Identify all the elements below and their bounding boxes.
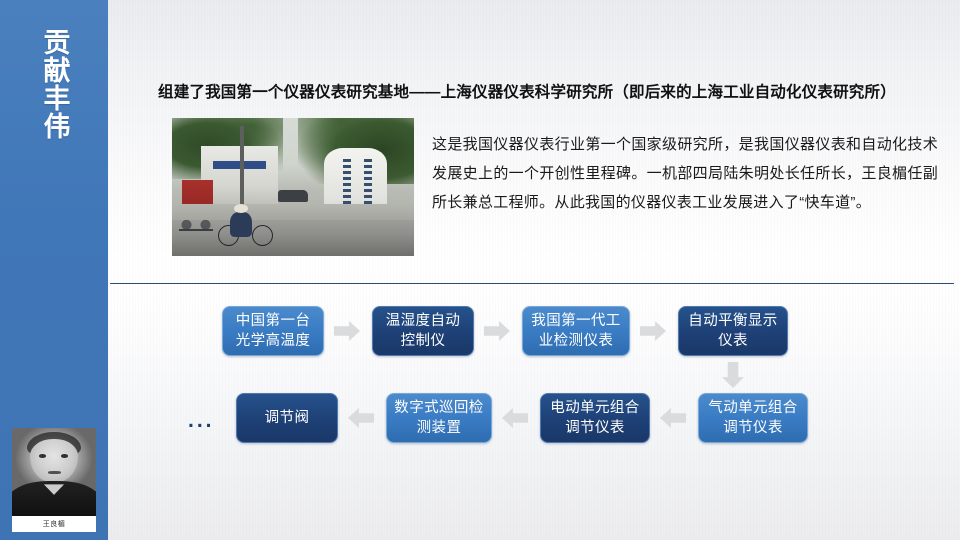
portrait-photo [12, 428, 96, 516]
portrait-face [30, 439, 77, 481]
flow-node-5[interactable]: 调节阀 [236, 393, 338, 443]
photo-pole [240, 126, 244, 214]
flow-node-2[interactable]: 温湿度自动 控制仪 [372, 306, 474, 356]
section-divider [110, 283, 954, 284]
photo-car [278, 190, 307, 202]
flow-node-7-label: 电动单元组合 调节仪表 [550, 398, 639, 438]
flow-arrow-4 [722, 362, 744, 388]
sidebar-title: 贡献丰伟 [38, 14, 71, 154]
slide-canvas: 贡献丰伟 王良楣 组建了我国第一个仪器仪表研究基地——上海仪器仪表科学研究所（即… [0, 0, 960, 540]
photo-plaque-right [364, 159, 372, 206]
portrait-caption: 王良楣 [12, 516, 96, 532]
sidebar: 贡献丰伟 王良楣 [0, 0, 108, 540]
flow-node-3-label: 我国第一代工 业检测仪表 [531, 311, 620, 351]
flow-node-1-label: 中国第一台 光学高温度 [236, 311, 311, 351]
flow-arrow-7 [660, 408, 686, 428]
flow-node-8[interactable]: 气动单元组合 调节仪表 [698, 393, 808, 443]
flowchart: ... 中国第一台 光学高温度 温湿度自动 控制仪 我国第一代工 业检测仪表 自… [108, 292, 960, 472]
portrait-eye-right [61, 454, 69, 458]
flow-node-4[interactable]: 自动平衡显示 仪表 [678, 306, 788, 356]
flow-node-8-label: 气动单元组合 调节仪表 [708, 398, 797, 438]
portrait-block: 王良楣 [12, 428, 96, 532]
flow-node-7[interactable]: 电动单元组合 调节仪表 [540, 393, 650, 443]
flow-arrow-5 [348, 408, 374, 428]
photo-plaque-left [343, 159, 351, 206]
flow-node-5-label: 调节阀 [265, 408, 310, 428]
photo-cyclist-body [230, 212, 252, 237]
flow-arrow-3 [640, 321, 666, 341]
flow-node-2-label: 温湿度自动 控制仪 [386, 311, 461, 351]
flow-node-6[interactable]: 数字式巡回检 测装置 [386, 393, 492, 443]
page-title: 组建了我国第一个仪器仪表研究基地——上海仪器仪表科学研究所（即后来的上海工业自动… [158, 80, 948, 102]
flow-node-4-label: 自动平衡显示 仪表 [688, 311, 777, 351]
flow-arrow-2 [484, 321, 510, 341]
flow-node-3[interactable]: 我国第一代工 业检测仪表 [522, 306, 630, 356]
flow-arrow-1 [334, 321, 360, 341]
photo-parked-bicycle [179, 210, 213, 231]
flow-node-1[interactable]: 中国第一台 光学高温度 [222, 306, 324, 356]
street-scene-photo [172, 118, 414, 256]
flow-node-6-label: 数字式巡回检 测装置 [394, 398, 483, 438]
flow-arrow-6 [502, 408, 528, 428]
flowchart-ellipsis: ... [188, 410, 215, 431]
body-paragraph: 这是我国仪器仪表行业第一个国家级研究所，是我国仪器仪表和自动化技术发展史上的一个… [432, 130, 938, 217]
portrait-mouth [48, 471, 61, 474]
